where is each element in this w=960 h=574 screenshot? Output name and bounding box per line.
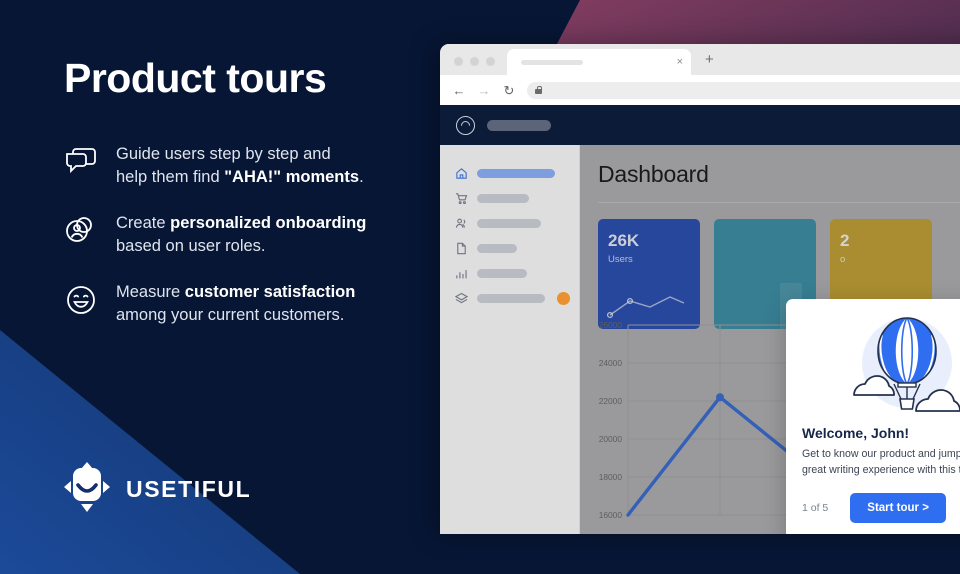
sidebar-label-placeholder — [477, 194, 529, 203]
tab-title-placeholder — [521, 60, 583, 65]
brand-name: USETIFUL — [126, 476, 251, 503]
cart-icon — [454, 192, 468, 206]
chart-y-axis-labels: 26000 24000 22000 20000 18000 16000 — [599, 320, 623, 520]
sidebar-item-apps[interactable] — [440, 286, 579, 311]
feature-list: Guide users step by step and help them f… — [64, 143, 400, 327]
popup-body-text: Get to know our product and jumpstart yo… — [802, 447, 960, 479]
speech-bubble-icon — [64, 145, 98, 179]
product-tour-popup[interactable]: × — [786, 299, 960, 534]
feature-text: Measure customer satisfaction among your… — [116, 281, 355, 326]
smiley-face-icon — [64, 283, 98, 317]
app-body: Dashboard 26K Users — [440, 145, 960, 534]
minimize-window-dot[interactable] — [470, 57, 479, 66]
browser-tabstrip: × + — [440, 44, 960, 75]
start-tour-button[interactable]: Start tour > — [850, 493, 946, 523]
compass-icon[interactable] — [456, 116, 475, 135]
tour-step-counter: 1 of 5 — [802, 502, 828, 514]
notification-badge[interactable] — [557, 292, 570, 305]
user-roles-icon — [64, 214, 98, 248]
feature-line-2-suffix: . — [359, 168, 364, 186]
feature-line-2-bold: "AHA!" moments — [224, 168, 359, 186]
window-controls[interactable] — [440, 57, 507, 75]
feature-item: Measure customer satisfaction among your… — [64, 281, 400, 326]
sidebar-label-placeholder — [477, 169, 555, 178]
feature-line-1-prefix: Create — [116, 214, 170, 232]
sidebar-label-placeholder — [477, 244, 517, 253]
feature-line-1-bold: personalized onboarding — [170, 214, 366, 232]
lock-icon — [535, 86, 542, 94]
close-icon[interactable]: × — [677, 57, 683, 68]
divider — [598, 202, 960, 203]
usetiful-smiley-logo-icon — [64, 462, 110, 517]
feature-line-2-prefix: help them find — [116, 168, 224, 186]
sidebar-label-placeholder — [477, 269, 527, 278]
popup-footer: 1 of 5 Start tour > — [802, 493, 960, 523]
feature-line-1-bold: customer satisfaction — [185, 283, 356, 301]
popup-title: Welcome, John! — [802, 425, 960, 441]
app-sidebar — [440, 145, 580, 534]
app-title-placeholder — [487, 120, 551, 131]
y-tick-label: 24000 — [599, 358, 623, 368]
close-window-dot[interactable] — [454, 57, 463, 66]
page-title: Product tours — [64, 56, 400, 101]
back-arrow-icon[interactable]: ← — [452, 84, 466, 97]
feature-line-1: Guide users step by step and — [116, 145, 331, 163]
y-tick-label: 20000 — [599, 434, 623, 444]
brand-logo: USETIFUL — [64, 462, 251, 517]
bar-chart-icon — [454, 267, 468, 281]
sidebar-label-placeholder — [477, 294, 545, 303]
stat-card-label: o — [840, 254, 922, 265]
forward-arrow-icon[interactable]: → — [477, 84, 491, 97]
feature-item: Guide users step by step and help them f… — [64, 143, 400, 188]
reload-icon[interactable]: ↻ — [502, 84, 516, 97]
y-tick-label: 22000 — [599, 396, 623, 406]
maximize-window-dot[interactable] — [486, 57, 495, 66]
layers-icon — [454, 292, 468, 306]
hot-air-balloon-icon — [802, 315, 960, 415]
browser-tab[interactable]: × — [507, 49, 691, 75]
feature-line-1-prefix: Measure — [116, 283, 185, 301]
sidebar-item-orders[interactable] — [440, 186, 579, 211]
y-tick-label: 18000 — [599, 472, 623, 482]
y-tick-label: 26000 — [599, 320, 623, 330]
chart-data-point — [716, 393, 724, 401]
sidebar-item-home[interactable] — [440, 161, 579, 186]
document-icon — [454, 242, 468, 256]
stat-card-label: Users — [608, 254, 690, 265]
feature-line-2: based on user roles. — [116, 237, 266, 255]
feature-text: Guide users step by step and help them f… — [116, 143, 364, 188]
web-app: Dashboard 26K Users — [440, 105, 960, 534]
home-icon — [454, 167, 468, 181]
stat-card-value: 2 — [840, 231, 922, 251]
feature-text: Create personalized onboarding based on … — [116, 212, 366, 257]
sidebar-item-pages[interactable] — [440, 236, 579, 261]
browser-window: × + ← → ↻ — [440, 44, 960, 534]
sidebar-label-placeholder — [477, 219, 541, 228]
dashboard-title: Dashboard — [598, 161, 960, 188]
new-tab-button[interactable]: + — [691, 52, 714, 75]
app-content: Dashboard 26K Users — [580, 145, 960, 534]
sidebar-item-customers[interactable] — [440, 211, 579, 236]
address-bar[interactable] — [527, 82, 960, 99]
users-icon — [454, 217, 468, 231]
promo-banner: Product tours Guide users step by step a… — [0, 0, 960, 574]
stat-card-value: 26K — [608, 231, 690, 251]
feature-item: Create personalized onboarding based on … — [64, 212, 400, 257]
browser-navbar: ← → ↻ — [440, 75, 960, 105]
app-topbar — [440, 105, 960, 145]
sidebar-item-analytics[interactable] — [440, 261, 579, 286]
y-tick-label: 16000 — [599, 510, 623, 520]
feature-line-2: among your current customers. — [116, 306, 344, 324]
